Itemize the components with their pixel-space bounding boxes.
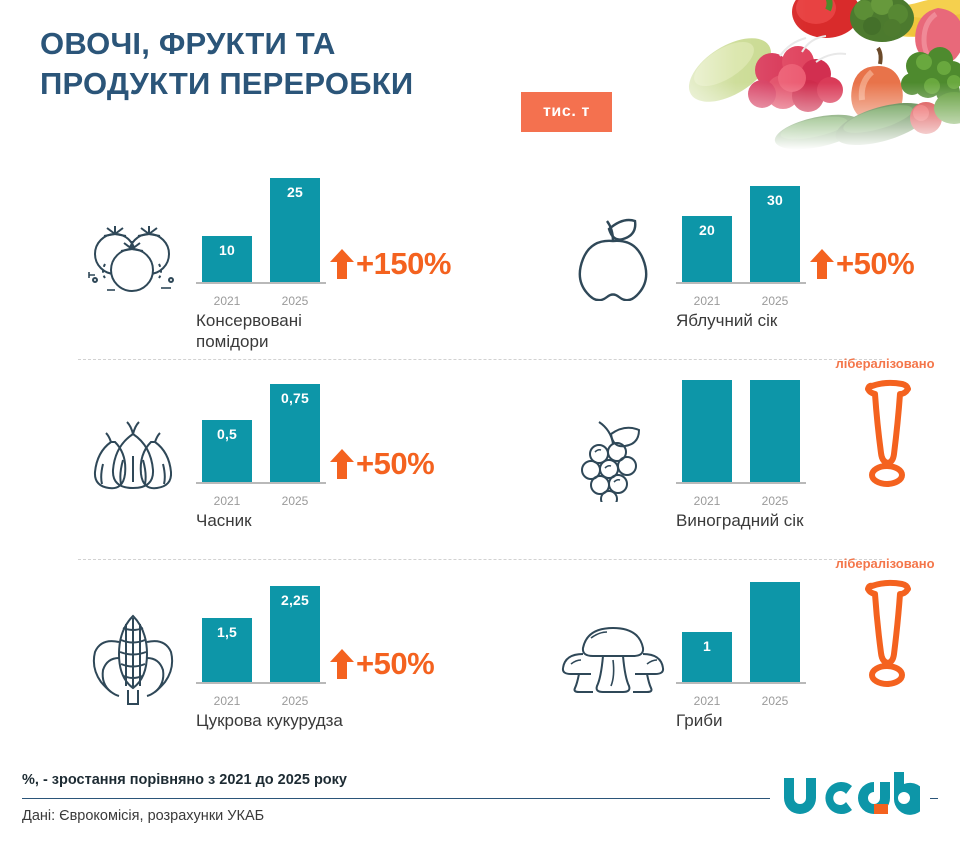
panel-row-1: 10 25 2021 2025 +150% Консервовані помід… [0, 160, 960, 360]
axis-label-2025: 2025 [270, 294, 320, 308]
axis-label-2021: 2021 [202, 694, 252, 708]
bar-chart-garlic: 0,5 0,75 2021 2025 [196, 378, 326, 510]
axis-label-2021: 2021 [682, 694, 732, 708]
panel-canned-tomatoes: 10 25 2021 2025 +150% Консервовані помід… [0, 160, 480, 360]
bar-chart-apple-juice: 20 30 2021 2025 [676, 178, 806, 310]
axis-label-2025: 2025 [750, 694, 800, 708]
panel-garlic: 0,5 0,75 2021 2025 +50% Часник [0, 360, 480, 560]
corn-icon [78, 610, 188, 705]
arrow-up-icon [330, 649, 354, 679]
axis-label-2025: 2025 [750, 494, 800, 508]
bar-2021 [682, 380, 732, 482]
chart-baseline [676, 282, 806, 284]
growth-value: +50% [356, 446, 434, 482]
panel-sweet-corn: 1,5 2,25 2021 2025 +50% Цукрова кукурудз… [0, 560, 480, 760]
bar-chart-sweet-corn: 1,5 2,25 2021 2025 [196, 578, 326, 710]
bar-2021: 0,5 [202, 420, 252, 482]
axis-label-2025: 2025 [270, 694, 320, 708]
bar-2025: 25 [270, 178, 320, 282]
bar-value-2021: 20 [699, 222, 715, 238]
exclamation-mark-icon [858, 378, 918, 488]
panel-mushrooms: 1 2021 2025 лібералізовано Гриби [480, 560, 960, 760]
axis-label-2021: 2021 [682, 294, 732, 308]
liberalized-indicator: лібералізовано [810, 556, 960, 696]
bar-2021: 1 [682, 632, 732, 682]
growth-value: +50% [836, 246, 914, 282]
growth-indicator: +50% [330, 646, 434, 682]
bar-value-2025: 30 [767, 192, 783, 208]
bar-value-2021: 0,5 [217, 426, 237, 442]
bar-2025: 0,75 [270, 384, 320, 482]
garlic-icon [78, 410, 188, 505]
bar-2021: 20 [682, 216, 732, 282]
arrow-up-icon [810, 249, 834, 279]
footer-note: %, - зростання порівняно з 2021 до 2025 … [22, 772, 347, 788]
bar-2025: 30 [750, 186, 800, 282]
footer-source: Дані: Єврокомісія, розрахунки УКАБ [22, 808, 264, 824]
ucab-logo-art [778, 772, 920, 824]
growth-indicator: +150% [330, 246, 451, 282]
bar-value-2025: 0,75 [281, 390, 309, 406]
bar-2025 [750, 582, 800, 682]
chart-baseline [196, 482, 326, 484]
ucab-logo [778, 772, 920, 829]
panel-apple-juice: 20 30 2021 2025 +50% Яблучний сік [480, 160, 960, 360]
growth-value: +150% [356, 246, 451, 282]
liberalized-indicator: лібералізовано [810, 356, 960, 496]
growth-indicator: +50% [330, 446, 434, 482]
axis-label-2021: 2021 [202, 294, 252, 308]
panel-label: Часник [196, 510, 466, 531]
arrow-up-icon [330, 249, 354, 279]
tomatoes-icon [78, 210, 188, 305]
arrow-up-icon [330, 449, 354, 479]
bar-value-2021: 1 [703, 638, 711, 654]
axis-label-2021: 2021 [202, 494, 252, 508]
growth-value: +50% [356, 646, 434, 682]
axis-label-2021: 2021 [682, 494, 732, 508]
footer: %, - зростання порівняно з 2021 до 2025 … [0, 760, 960, 844]
liberalized-label: лібералізовано [810, 556, 960, 571]
bar-2025: 2,25 [270, 586, 320, 682]
chart-baseline [196, 682, 326, 684]
bar-2025 [750, 380, 800, 482]
apple-icon [558, 210, 668, 305]
mushrooms-icon [558, 610, 668, 705]
chart-baseline [196, 282, 326, 284]
panel-label: Консервовані помідори [196, 310, 466, 352]
bar-value-2025: 2,25 [281, 592, 309, 608]
liberalized-label: лібералізовано [810, 356, 960, 371]
bar-chart-grape-juice: 2021 2025 [676, 378, 806, 510]
axis-label-2025: 2025 [270, 494, 320, 508]
panel-label: Цукрова кукурудза [196, 710, 466, 731]
bar-2021: 1,5 [202, 618, 252, 682]
panel-row-2: 0,5 0,75 2021 2025 +50% Часник [0, 360, 960, 560]
bar-2021: 10 [202, 236, 252, 282]
panels-grid: 10 25 2021 2025 +150% Консервовані помід… [0, 160, 960, 760]
chart-baseline [676, 682, 806, 684]
exclamation-mark-icon [858, 578, 918, 688]
bar-chart-canned-tomatoes: 10 25 2021 2025 [196, 178, 326, 310]
panel-label: Яблучний сік [676, 310, 946, 331]
panel-label: Виноградний сік [676, 510, 946, 531]
panel-row-3: 1,5 2,25 2021 2025 +50% Цукрова кукурудз… [0, 560, 960, 760]
grapes-icon [558, 410, 668, 505]
unit-badge: тис. т [521, 92, 612, 132]
panel-grape-juice: 2021 2025 лібералізовано Виноградний сік [480, 360, 960, 560]
bar-chart-mushrooms: 1 2021 2025 [676, 578, 806, 710]
bar-value-2021: 1,5 [217, 624, 237, 640]
bar-value-2025: 25 [287, 184, 303, 200]
bar-value-2021: 10 [219, 242, 235, 258]
axis-label-2025: 2025 [750, 294, 800, 308]
growth-indicator: +50% [810, 246, 914, 282]
chart-baseline [676, 482, 806, 484]
panel-label: Гриби [676, 710, 946, 731]
